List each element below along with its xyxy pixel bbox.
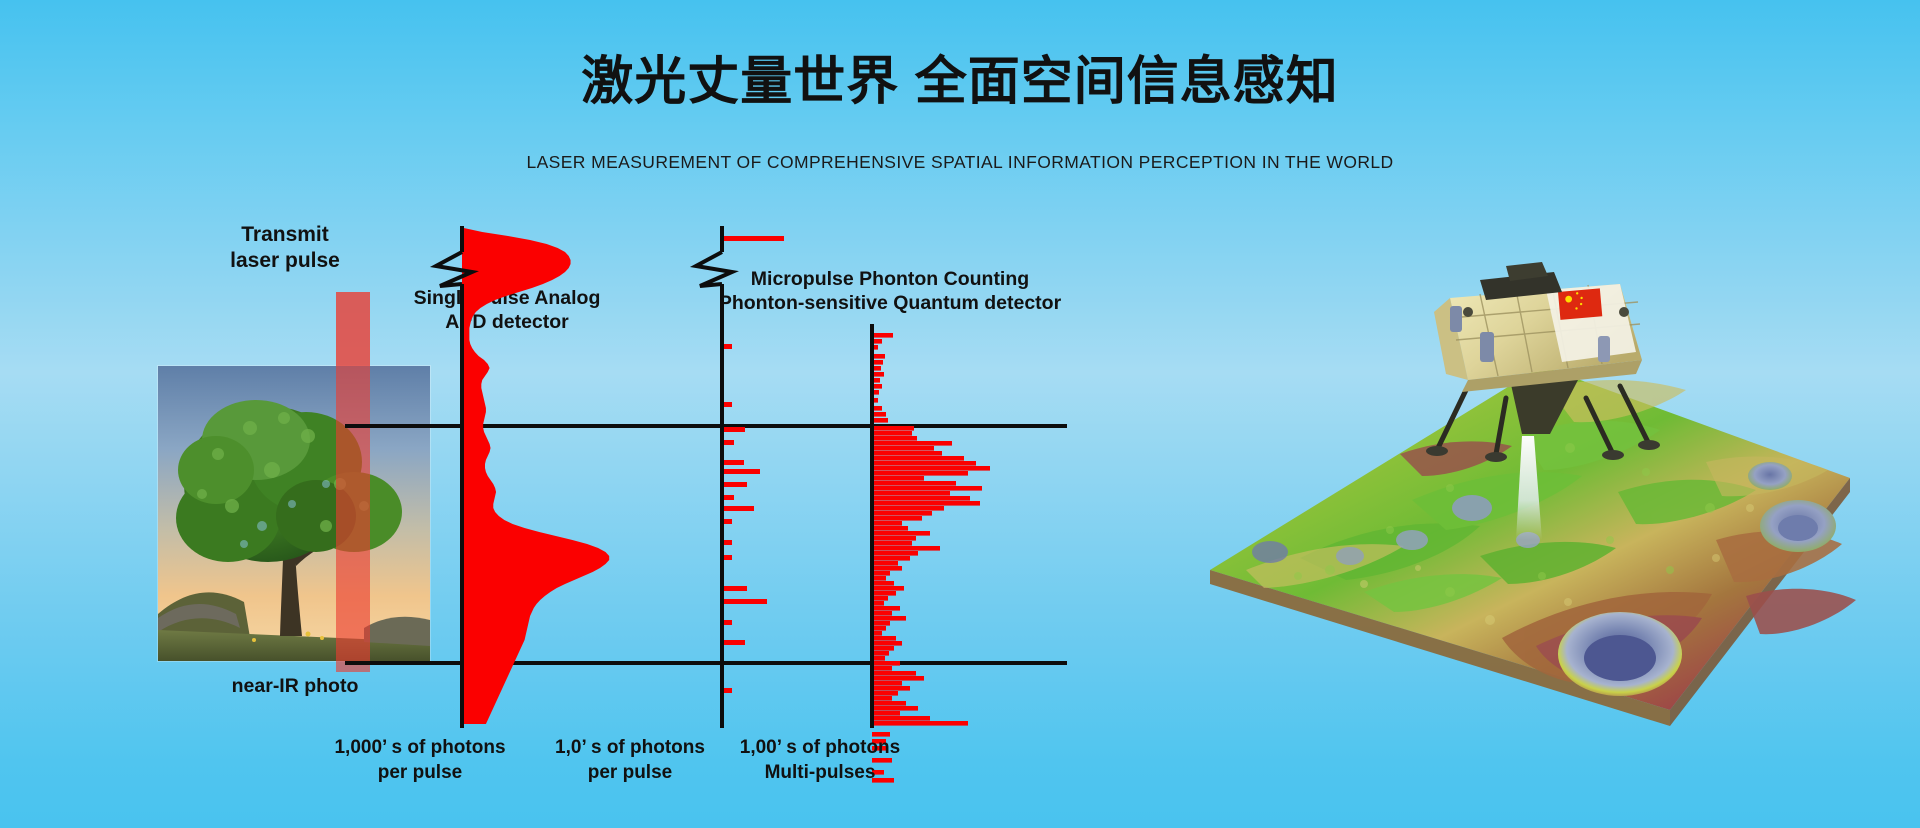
axis3-line1: 1,00’ s of photons [700,736,940,761]
crater-mid [1452,495,1492,521]
axis-caption-micropulse: 1,00’ s of photons Multi-pulses [700,736,940,785]
micropulse-bars [872,333,990,783]
waveform-panel-micropulse [862,228,1032,728]
axis1-line2: per pulse [300,761,540,786]
near-ir-photo [158,366,430,661]
laser-beam [336,292,370,672]
crater-edge-left [1252,541,1288,563]
china-flag-icon [1558,288,1602,320]
crater-right-upper [1748,462,1792,490]
transmit-label-line1: Transmit [200,222,370,248]
lidar-waveform-diagram: Transmit laser pulse near-IR photo Singl… [0,0,1120,828]
transmit-laser-label: Transmit laser pulse [200,222,370,273]
analog-waveform-fill [462,228,609,724]
crater-left [1396,530,1428,550]
axis-caption-analog: 1,000’ s of photons per pulse [300,736,540,785]
photo-caption: near-IR photo [190,675,400,699]
crater-small-2 [1336,547,1364,565]
waveform-panel-low-photon [700,228,850,728]
transmit-label-line2: laser pulse [200,248,370,274]
axis3-line2: Multi-pulses [700,761,940,786]
waveform-panel-analog [440,228,640,728]
axis1-line1: 1,000’ s of photons [300,736,540,761]
low-photon-bars [722,236,784,693]
low-photon-axis [696,226,732,728]
lunar-lander-terrain-scene [1150,240,1870,740]
poster-stage: 激光丈量世界 全面空间信息感知 LASER MEASUREMENT OF COM… [0,0,1920,828]
